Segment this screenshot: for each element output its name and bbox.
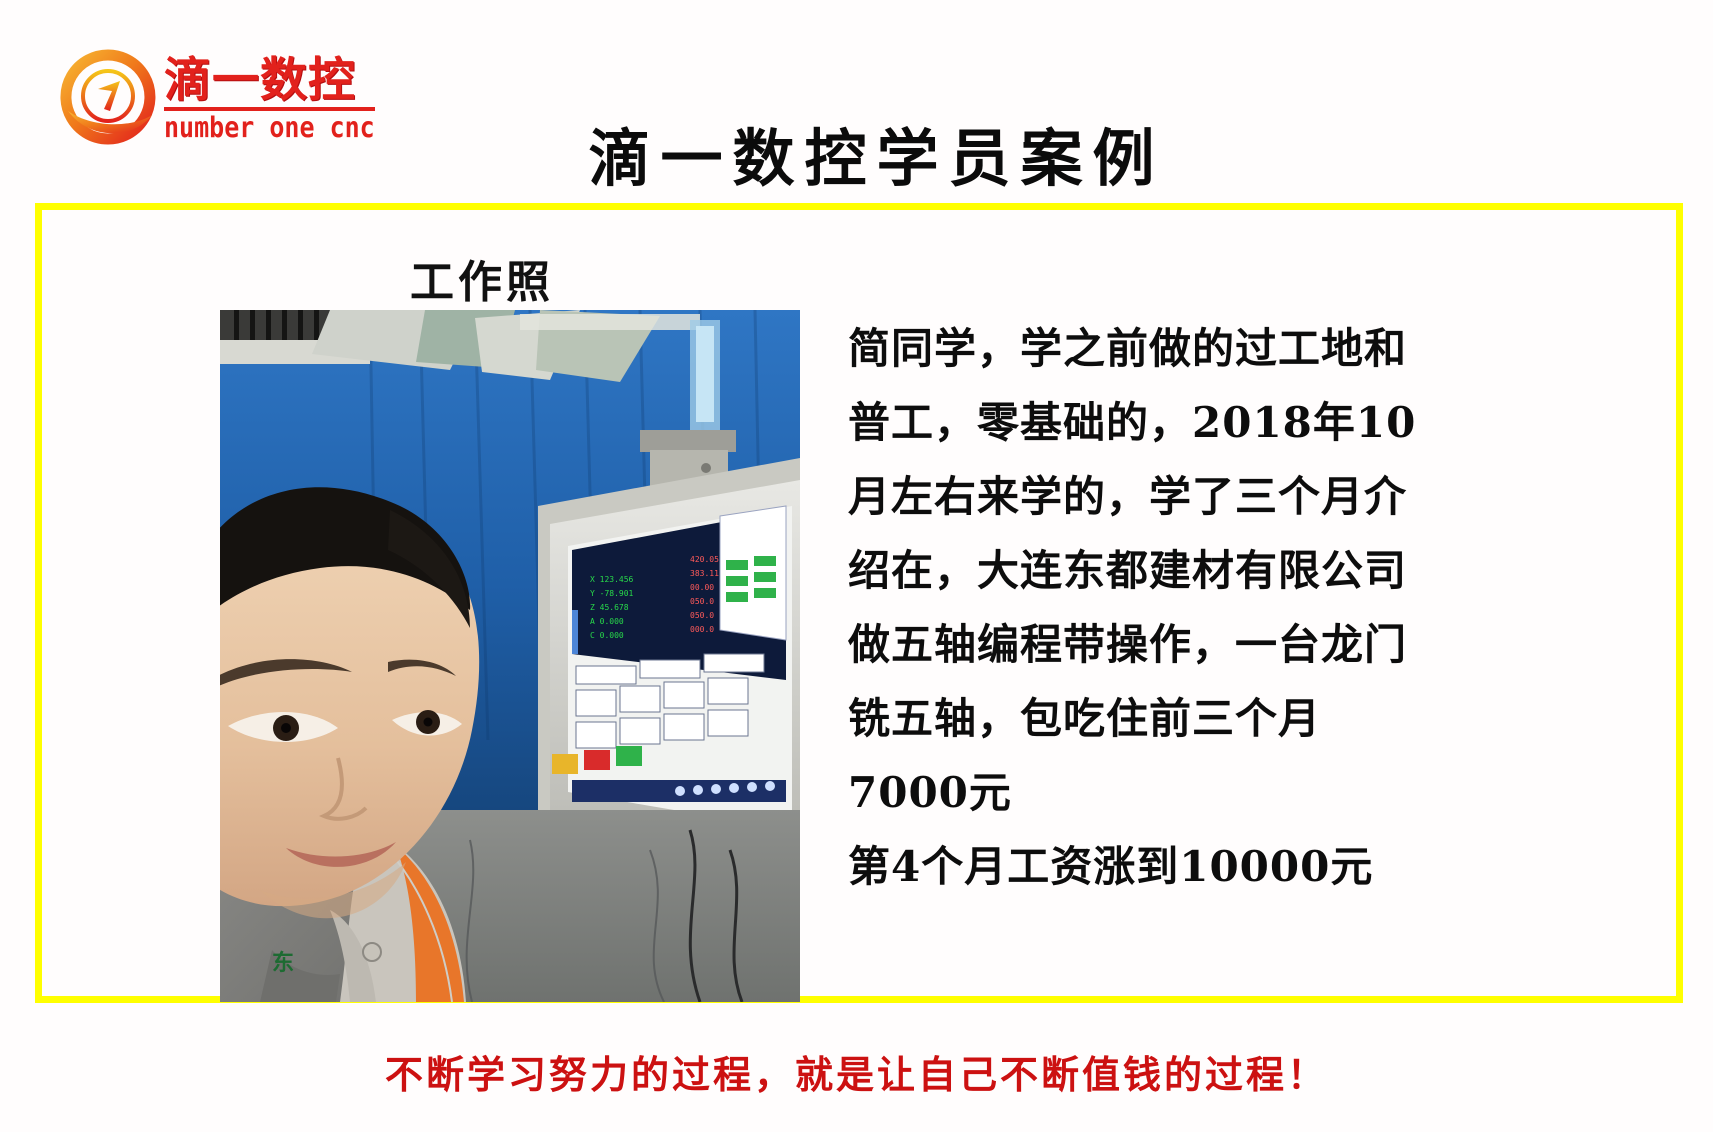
svg-text:Z 45.678: Z 45.678 <box>590 603 629 612</box>
brand-name-cn: 滴一数控 <box>164 57 375 104</box>
testimony-line: 第4个月工资涨到10000元 <box>848 830 1538 904</box>
svg-text:050.0: 050.0 <box>690 597 714 606</box>
testimony-line: 月左右来学的，学了三个月介 <box>848 460 1538 534</box>
svg-text:东: 东 <box>272 950 294 976</box>
svg-text:Y -78.901: Y -78.901 <box>590 589 634 598</box>
testimony-line: 7000元 <box>848 756 1538 830</box>
testimony-line: 简同学，学之前做的过工地和 <box>848 312 1538 386</box>
svg-text:383.11: 383.11 <box>690 569 719 578</box>
student-work-photo: X 123.456 Y -78.901 Z 45.678 A 0.000 C 0… <box>220 310 800 1002</box>
testimony-line: 普工，零基础的，2018年10 <box>848 386 1538 460</box>
svg-text:000.0: 000.0 <box>690 625 714 634</box>
page-title: 滴一数控学员案例 <box>0 108 1713 198</box>
svg-text:A 0.000: A 0.000 <box>590 617 624 626</box>
footer-slogan: 不断学习努力的过程，就是让自己不断值钱的过程！ <box>0 1044 1713 1099</box>
svg-text:X 123.456: X 123.456 <box>590 575 634 584</box>
svg-text:420.05: 420.05 <box>690 555 719 564</box>
testimony-line: 做五轴编程带操作，一台龙门 <box>848 608 1538 682</box>
testimony-text: 简同学，学之前做的过工地和 普工，零基础的，2018年10 月左右来学的，学了三… <box>848 312 1538 904</box>
photo-label: 工作照 <box>410 246 554 310</box>
testimony-line: 铣五轴，包吃住前三个月 <box>848 682 1538 756</box>
testimony-line: 绍在，大连东都建材有限公司 <box>848 534 1538 608</box>
svg-text:00.00: 00.00 <box>690 583 714 592</box>
slide-root: 滴一数控 number one cnc 滴一数控学员案例 工作照 <box>0 0 1713 1132</box>
svg-text:050.0: 050.0 <box>690 611 714 620</box>
svg-text:C 0.000: C 0.000 <box>590 631 624 640</box>
